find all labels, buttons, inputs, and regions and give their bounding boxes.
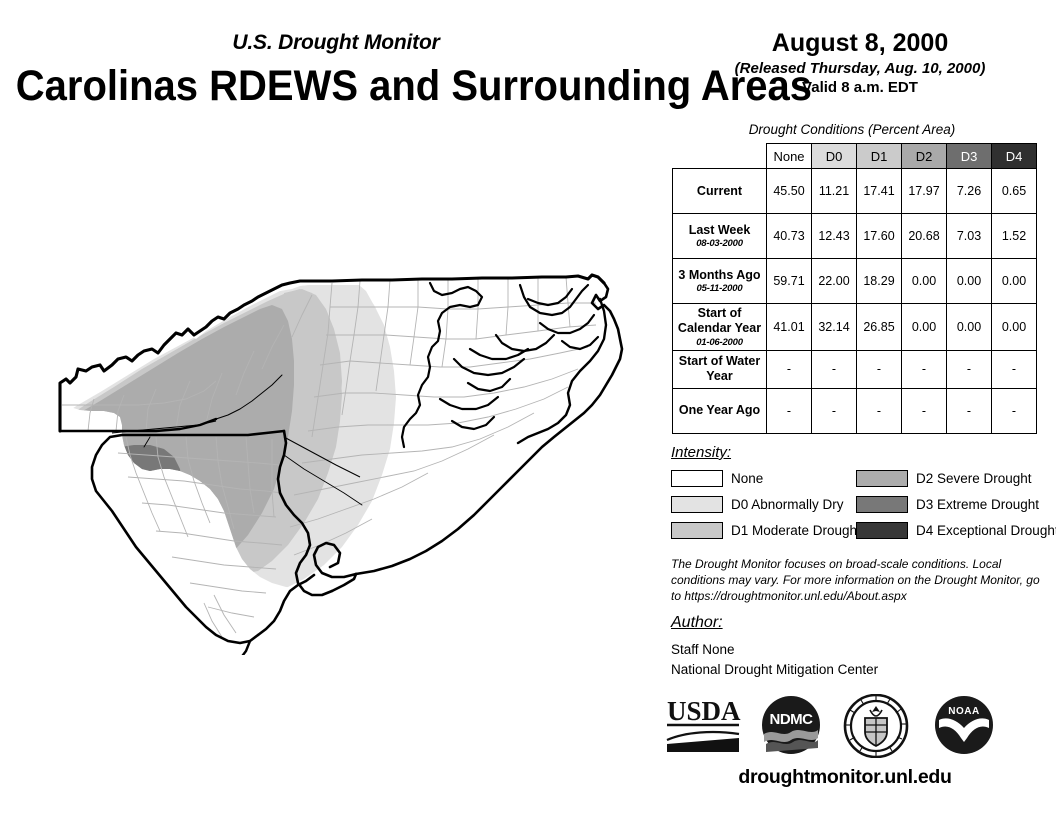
legend-column-right: D2 Severe Drought D3 Extreme Drought D4 … bbox=[856, 468, 1056, 546]
cell-3months-d4: 0.00 bbox=[992, 259, 1037, 304]
release-date: (Released Thursday, Aug. 10, 2000) bbox=[700, 60, 1020, 79]
cell-oneyear-d1: - bbox=[857, 388, 902, 433]
column-header-d0: D0 bbox=[812, 144, 857, 169]
row-subdate-3-months-ago: 05-11-2000 bbox=[677, 283, 762, 294]
legend-item-none: None bbox=[671, 468, 861, 489]
row-label-current: Current bbox=[673, 169, 767, 214]
cell-3months-d2: 0.00 bbox=[902, 259, 947, 304]
noaa-logo[interactable]: NOAA bbox=[933, 694, 995, 761]
column-header-none: None bbox=[767, 144, 812, 169]
column-header-d4: D4 bbox=[992, 144, 1037, 169]
table-row: Start of Calendar Year 01-06-2000 41.01 … bbox=[673, 304, 1037, 351]
cell-lastweek-d2: 20.68 bbox=[902, 214, 947, 259]
drought-monitor-page: U.S. Drought Monitor Carolinas RDEWS and… bbox=[0, 0, 1056, 816]
cell-calyear-d3: 0.00 bbox=[947, 304, 992, 351]
author-heading: Author: bbox=[671, 614, 723, 632]
legend-swatch-none bbox=[671, 470, 723, 487]
legend-item-d1: D1 Moderate Drought bbox=[671, 520, 861, 541]
legend-label-d1: D1 Moderate Drought bbox=[731, 523, 861, 538]
cell-current-d3: 7.26 bbox=[947, 169, 992, 214]
cell-lastweek-none: 40.73 bbox=[767, 214, 812, 259]
row-label-3-months-ago: 3 Months Ago 05-11-2000 bbox=[673, 259, 767, 304]
cell-calyear-d2: 0.00 bbox=[902, 304, 947, 351]
column-header-d1: D1 bbox=[857, 144, 902, 169]
author-org: National Drought Mitigation Center bbox=[671, 660, 1051, 680]
cell-lastweek-d1: 17.60 bbox=[857, 214, 902, 259]
cell-3months-d1: 18.29 bbox=[857, 259, 902, 304]
row-label-one-year-ago: One Year Ago bbox=[673, 388, 767, 433]
row-label-start-calendar-year: Start of Calendar Year 01-06-2000 bbox=[673, 304, 767, 351]
svg-text:USDA: USDA bbox=[667, 696, 741, 726]
cell-current-none: 45.50 bbox=[767, 169, 812, 214]
author-name: Staff None bbox=[671, 640, 1051, 660]
row-subdate-last-week: 08-03-2000 bbox=[677, 238, 762, 249]
cell-3months-d0: 22.00 bbox=[812, 259, 857, 304]
legend-label-d0: D0 Abnormally Dry bbox=[731, 497, 844, 512]
date-block: August 8, 2000 (Released Thursday, Aug. … bbox=[700, 30, 1020, 97]
legend-label-d4: D4 Exceptional Drought bbox=[916, 523, 1056, 538]
cell-oneyear-d2: - bbox=[902, 388, 947, 433]
cell-3months-none: 59.71 bbox=[767, 259, 812, 304]
legend-swatch-d2 bbox=[856, 470, 908, 487]
cell-lastweek-d0: 12.43 bbox=[812, 214, 857, 259]
cell-wateryear-none: - bbox=[767, 350, 812, 388]
cell-lastweek-d4: 1.52 bbox=[992, 214, 1037, 259]
usdoc-logo[interactable] bbox=[842, 694, 910, 763]
intensity-heading: Intensity: bbox=[671, 444, 731, 461]
page-subtitle: U.S. Drought Monitor bbox=[0, 31, 672, 55]
row-label-last-week: Last Week 08-03-2000 bbox=[673, 214, 767, 259]
column-header-d2: D2 bbox=[902, 144, 947, 169]
cell-3months-d3: 0.00 bbox=[947, 259, 992, 304]
legend-item-d0: D0 Abnormally Dry bbox=[671, 494, 861, 515]
legend-swatch-d1 bbox=[671, 522, 723, 539]
column-header-d3: D3 bbox=[947, 144, 992, 169]
cell-oneyear-none: - bbox=[767, 388, 812, 433]
table-header-row: None D0 D1 D2 D3 D4 bbox=[673, 144, 1037, 169]
legend-swatch-d3 bbox=[856, 496, 908, 513]
cell-wateryear-d3: - bbox=[947, 350, 992, 388]
cell-current-d4: 0.65 bbox=[992, 169, 1037, 214]
svg-text:NDMC: NDMC bbox=[770, 711, 814, 728]
valid-time: Valid 8 a.m. EDT bbox=[700, 79, 1020, 97]
map-date: August 8, 2000 bbox=[700, 30, 1020, 58]
cell-calyear-d4: 0.00 bbox=[992, 304, 1037, 351]
table-row: Start of Water Year - - - - - - bbox=[673, 350, 1037, 388]
cell-current-d1: 17.41 bbox=[857, 169, 902, 214]
table-caption: Drought Conditions (Percent Area) bbox=[672, 122, 1032, 137]
cell-lastweek-d3: 7.03 bbox=[947, 214, 992, 259]
cell-calyear-d1: 26.85 bbox=[857, 304, 902, 351]
table-row: 3 Months Ago 05-11-2000 59.71 22.00 18.2… bbox=[673, 259, 1037, 304]
cell-calyear-none: 41.01 bbox=[767, 304, 812, 351]
legend-item-d2: D2 Severe Drought bbox=[856, 468, 1056, 489]
drought-map[interactable] bbox=[0, 255, 660, 655]
site-url[interactable]: droughtmonitor.unl.edu bbox=[665, 766, 1025, 789]
cell-wateryear-d0: - bbox=[812, 350, 857, 388]
legend-swatch-d4 bbox=[856, 522, 908, 539]
cell-calyear-d0: 32.14 bbox=[812, 304, 857, 351]
drought-conditions-table: None D0 D1 D2 D3 D4 Current 45.50 11.21 … bbox=[672, 143, 1037, 434]
legend-swatch-d0 bbox=[671, 496, 723, 513]
logo-strip: USDA NDMC bbox=[665, 694, 1025, 760]
usda-logo[interactable]: USDA bbox=[665, 694, 743, 761]
legend-label-none: None bbox=[731, 471, 763, 486]
cell-oneyear-d3: - bbox=[947, 388, 992, 433]
cell-current-d0: 11.21 bbox=[812, 169, 857, 214]
table-row: One Year Ago - - - - - - bbox=[673, 388, 1037, 433]
legend-label-d2: D2 Severe Drought bbox=[916, 471, 1032, 486]
legend-column-left: None D0 Abnormally Dry D1 Moderate Droug… bbox=[671, 468, 861, 546]
row-label-start-water-year: Start of Water Year bbox=[673, 350, 767, 388]
table-row: Last Week 08-03-2000 40.73 12.43 17.60 2… bbox=[673, 214, 1037, 259]
cell-oneyear-d4: - bbox=[992, 388, 1037, 433]
cell-wateryear-d2: - bbox=[902, 350, 947, 388]
cell-wateryear-d4: - bbox=[992, 350, 1037, 388]
page-title: Carolinas RDEWS and Surrounding Areas bbox=[16, 62, 648, 111]
table-corner-cell bbox=[673, 144, 767, 169]
row-subdate-start-calendar-year: 01-06-2000 bbox=[677, 337, 762, 348]
author-block: Staff None National Drought Mitigation C… bbox=[671, 640, 1051, 679]
ndmc-logo[interactable]: NDMC bbox=[760, 694, 822, 761]
legend-item-d3: D3 Extreme Drought bbox=[856, 494, 1056, 515]
cell-current-d2: 17.97 bbox=[902, 169, 947, 214]
svg-text:NOAA: NOAA bbox=[948, 706, 979, 717]
legend-item-d4: D4 Exceptional Drought bbox=[856, 520, 1056, 541]
disclaimer-text: The Drought Monitor focuses on broad-sca… bbox=[671, 556, 1051, 604]
cell-oneyear-d0: - bbox=[812, 388, 857, 433]
cell-wateryear-d1: - bbox=[857, 350, 902, 388]
legend-label-d3: D3 Extreme Drought bbox=[916, 497, 1039, 512]
table-row: Current 45.50 11.21 17.41 17.97 7.26 0.6… bbox=[673, 169, 1037, 214]
